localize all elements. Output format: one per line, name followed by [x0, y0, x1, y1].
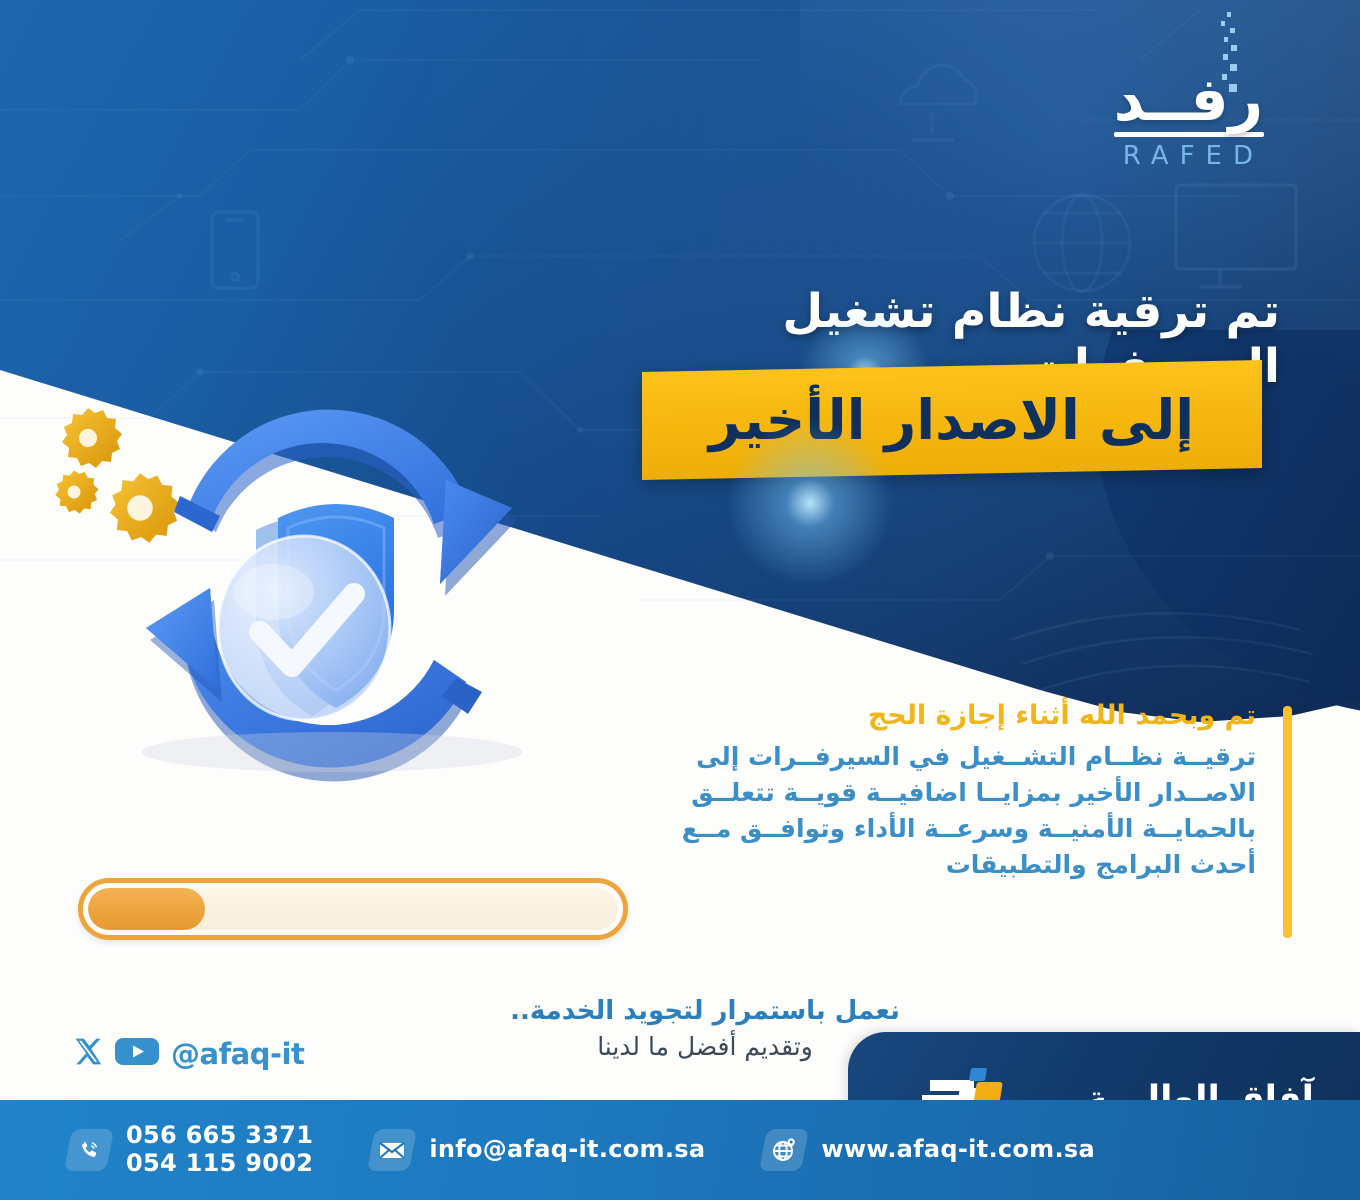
- rafed-logo-latin: RAFED: [1113, 141, 1264, 171]
- contact-item-website[interactable]: www.afaq-it.com.sa: [763, 1129, 1095, 1171]
- phone-line-2: 054 115 9002: [126, 1150, 313, 1178]
- copy-paragraph: ترقيــة نظــام التشــغيل في السيرفــرات …: [676, 739, 1256, 883]
- progress-track: [88, 888, 618, 930]
- body-copy-block: تم وبحمد الله أثناء إجازة الحج ترقيــة ن…: [676, 700, 1256, 883]
- envelope-icon: [367, 1129, 417, 1171]
- copy-line: أحدث البرامج والتطبيقات: [676, 847, 1256, 883]
- contact-email-text: info@afaq-it.com.sa: [429, 1136, 705, 1164]
- contact-item-phone[interactable]: 056 665 3371 054 115 9002: [68, 1122, 313, 1178]
- contact-bar: 056 665 3371 054 115 9002 info@afaq-it.c…: [0, 1100, 1360, 1200]
- globe-pin-icon: [759, 1129, 809, 1171]
- youtube-icon[interactable]: [115, 1036, 159, 1071]
- x-twitter-icon[interactable]: [72, 1036, 103, 1071]
- phone-icon: [64, 1129, 114, 1171]
- system-update-illustration: [42, 392, 652, 792]
- copy-line: بالحمايــة الأمنيــة وسرعــة الأداء وتوا…: [676, 811, 1256, 847]
- rafed-dots-decor: [1216, 12, 1242, 98]
- copy-divider: [1283, 706, 1292, 938]
- social-handle[interactable]: @afaq-it: [171, 1037, 304, 1071]
- contact-item-email[interactable]: info@afaq-it.com.sa: [371, 1129, 705, 1171]
- copy-line: ترقيــة نظــام التشــغيل في السيرفــرات …: [676, 739, 1256, 775]
- copy-line: الاصــدار الأخير بمزايــا اضافيــة قويــ…: [676, 775, 1256, 811]
- highlight-banner: إلى الاصدار الأخير: [642, 360, 1262, 480]
- highlight-banner-text: إلى الاصدار الأخير: [709, 393, 1194, 448]
- progress-fill: [88, 888, 205, 930]
- gear-icon-group: [55, 408, 179, 543]
- rafed-logo: رفــد RAFED: [1113, 70, 1264, 171]
- contact-phone-text: 056 665 3371 054 115 9002: [126, 1122, 313, 1178]
- phone-line-1: 056 665 3371: [126, 1121, 313, 1149]
- check-badge-icon: [218, 536, 390, 720]
- contact-website-text: www.afaq-it.com.sa: [821, 1136, 1095, 1164]
- update-progress-bar: [78, 878, 628, 940]
- copy-heading: تم وبحمد الله أثناء إجازة الحج: [676, 700, 1256, 732]
- promo-poster: رفــد RAFED تم ترقية نظام تشغيل السيرفرا…: [0, 0, 1360, 1200]
- tagline-line1: نعمل باستمرار لتجويد الخدمة..: [470, 996, 940, 1026]
- social-row: @afaq-it: [72, 1036, 304, 1071]
